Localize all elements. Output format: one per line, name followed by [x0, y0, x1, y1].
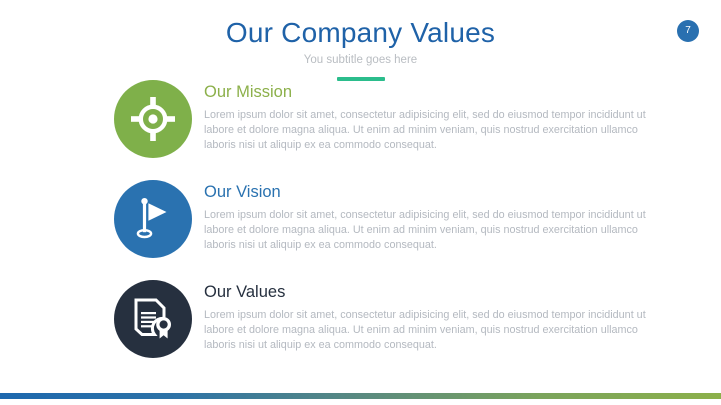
- certificate-award-icon: [130, 296, 176, 342]
- mission-text-block: Our Mission Lorem ipsum dolor sit amet, …: [204, 82, 656, 153]
- values-text-block: Our Values Lorem ipsum dolor sit amet, c…: [204, 282, 656, 353]
- values-heading: Our Values: [204, 282, 656, 302]
- mission-icon-badge: [114, 80, 192, 158]
- target-crosshair-icon: [130, 96, 176, 142]
- slide-header: Our Company Values You subtitle goes her…: [0, 16, 721, 81]
- values-icon-badge: [114, 280, 192, 358]
- values-list: Our Mission Lorem ipsum dolor sit amet, …: [0, 80, 721, 376]
- values-body: Lorem ipsum dolor sit amet, consectetur …: [204, 308, 656, 353]
- page-subtitle: You subtitle goes here: [0, 52, 721, 68]
- flag-icon: [130, 196, 176, 242]
- vision-text-block: Our Vision Lorem ipsum dolor sit amet, c…: [204, 182, 656, 253]
- list-item: Our Vision Lorem ipsum dolor sit amet, c…: [0, 180, 721, 276]
- page-title: Our Company Values: [0, 16, 721, 50]
- slide-canvas: 7 Our Company Values You subtitle goes h…: [0, 0, 721, 405]
- mission-body: Lorem ipsum dolor sit amet, consectetur …: [204, 108, 656, 153]
- vision-icon-badge: [114, 180, 192, 258]
- mission-heading: Our Mission: [204, 82, 656, 102]
- vision-heading: Our Vision: [204, 182, 656, 202]
- vision-body: Lorem ipsum dolor sit amet, consectetur …: [204, 208, 656, 253]
- list-item: Our Values Lorem ipsum dolor sit amet, c…: [0, 280, 721, 376]
- list-item: Our Mission Lorem ipsum dolor sit amet, …: [0, 80, 721, 176]
- footer-gradient-bar: [0, 393, 721, 399]
